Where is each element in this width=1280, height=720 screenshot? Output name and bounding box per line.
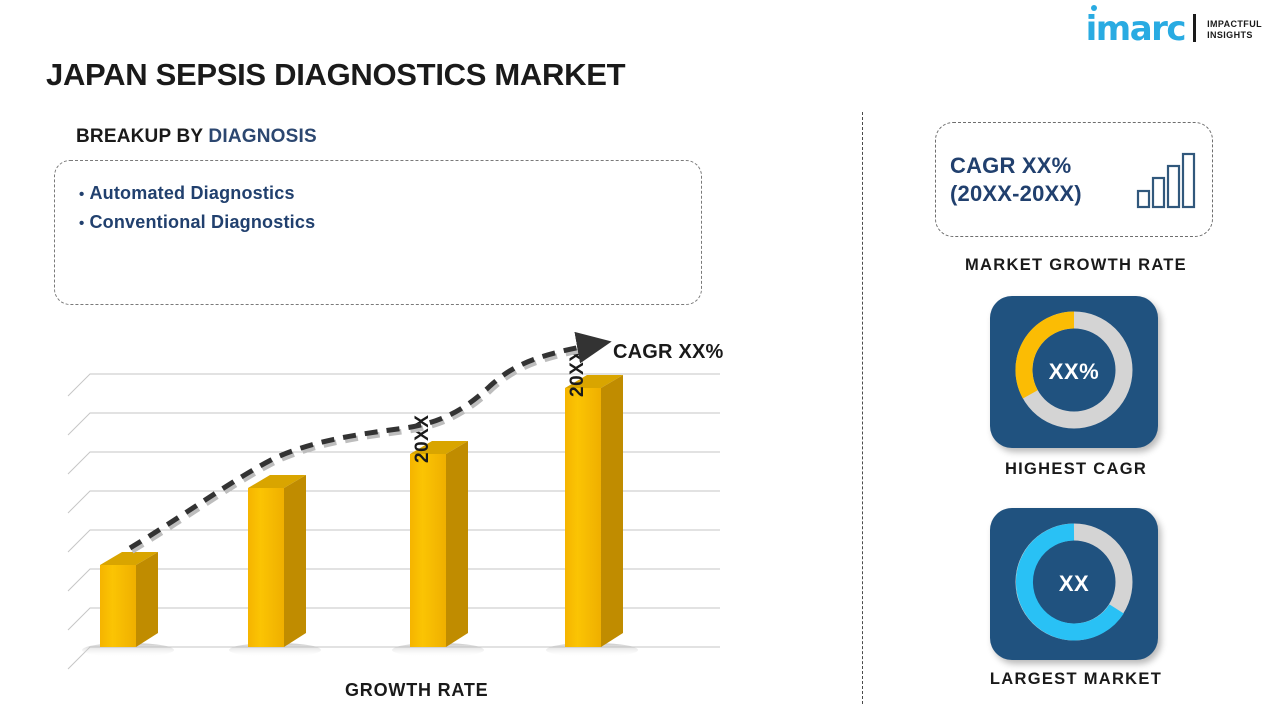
cagr-period: (20XX-20XX) xyxy=(950,180,1136,208)
highest-cagr-value: XX% xyxy=(990,296,1158,448)
list-item-label: Conventional Diagnostics xyxy=(89,212,315,232)
chart-bar xyxy=(100,552,158,647)
market-growth-rate-label: MARKET GROWTH RATE xyxy=(916,256,1236,275)
chart-bar-label: 20XX xyxy=(567,349,588,397)
market-growth-rate-box: CAGR XX% (20XX-20XX) xyxy=(935,122,1213,237)
largest-market-label: LARGEST MARKET xyxy=(916,670,1236,689)
bar-chart-icon xyxy=(1136,151,1198,209)
imarc-logo: imarc IMPACTFUL INSIGHTS xyxy=(1086,14,1262,44)
chart-bar xyxy=(248,475,306,647)
bullet-icon: • xyxy=(79,186,84,203)
largest-market-card: XX xyxy=(990,508,1158,660)
trend-arrow-icon xyxy=(130,345,592,548)
logo-tagline-line2: INSIGHTS xyxy=(1207,30,1262,41)
list-item: •Conventional Diagnostics xyxy=(79,208,701,237)
chart-bar-shadows xyxy=(82,643,638,657)
chart-x-axis-label: GROWTH RATE xyxy=(345,680,488,701)
chart-bar: 20XX xyxy=(410,415,468,647)
infographic-page: imarc IMPACTFUL INSIGHTS JAPAN SEPSIS DI… xyxy=(0,0,1280,720)
segment-heading-prefix: BREAKUP BY xyxy=(76,126,208,147)
bullet-icon: • xyxy=(79,215,84,232)
cagr-text: CAGR XX% (20XX-20XX) xyxy=(950,152,1136,207)
growth-bar-chart: 20XX 20XX xyxy=(60,330,750,680)
list-item: •Automated Diagnostics xyxy=(79,179,701,208)
chart-bar: 20XX xyxy=(565,349,623,647)
list-item-label: Automated Diagnostics xyxy=(89,183,294,203)
chart-trendline xyxy=(130,345,594,551)
segment-heading-highlight: DIAGNOSIS xyxy=(208,126,316,147)
segment-heading: BREAKUP BY DIAGNOSIS xyxy=(76,126,317,148)
vertical-divider xyxy=(862,112,863,704)
largest-market-value: XX xyxy=(990,508,1158,660)
cagr-value: CAGR XX% xyxy=(950,152,1136,180)
logo-wordmark: imarc xyxy=(1086,15,1185,44)
chart-svg: 20XX 20XX xyxy=(60,330,750,680)
logo-divider xyxy=(1193,14,1196,42)
highest-cagr-card: XX% xyxy=(990,296,1158,448)
logo-tagline: IMPACTFUL INSIGHTS xyxy=(1207,19,1262,45)
segment-list-box: •Automated Diagnostics •Conventional Dia… xyxy=(54,160,702,305)
logo-tagline-line1: IMPACTFUL xyxy=(1207,19,1262,30)
chart-cagr-annotation: CAGR XX% xyxy=(613,341,724,364)
highest-cagr-label: HIGHEST CAGR xyxy=(916,460,1236,479)
page-title: JAPAN SEPSIS DIAGNOSTICS MARKET xyxy=(46,57,625,93)
logo-dot-icon xyxy=(1091,5,1097,11)
